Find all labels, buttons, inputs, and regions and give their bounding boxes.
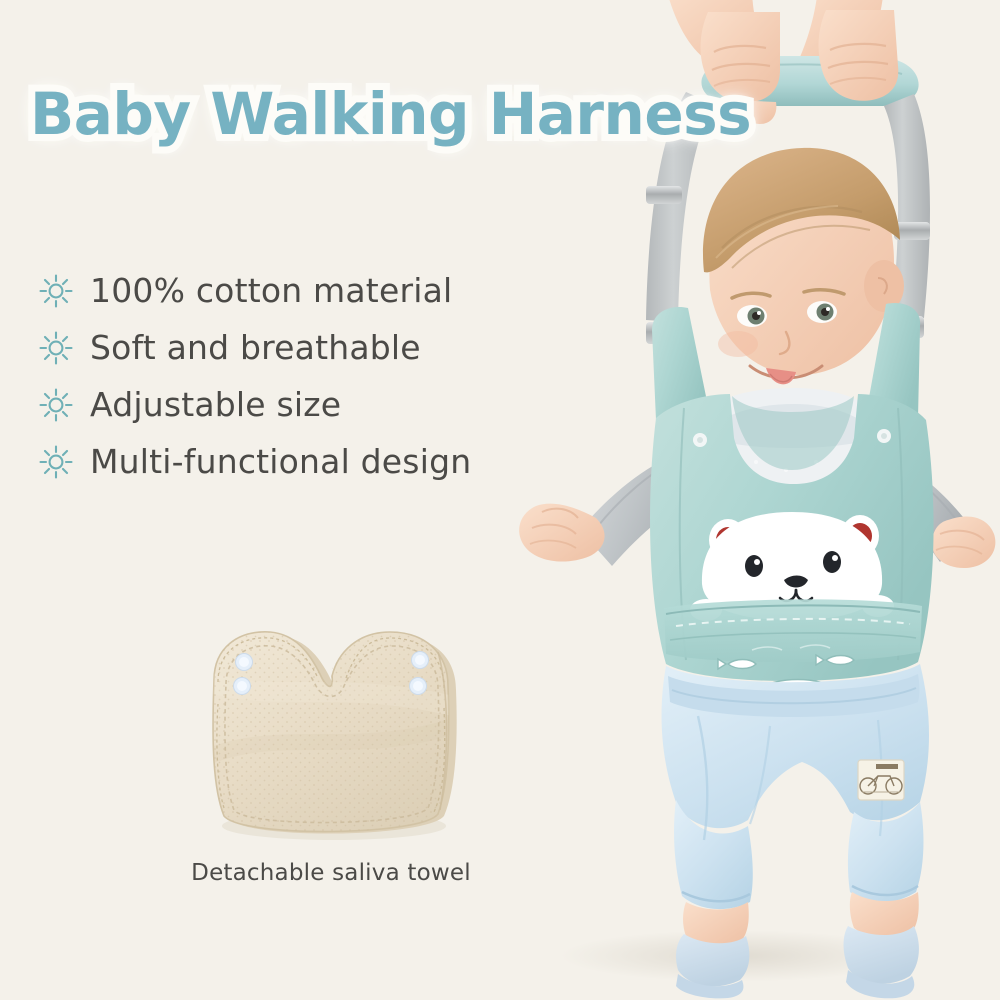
title-block: Baby Walking Harness	[30, 84, 751, 145]
feature-item-cotton: 100% cotton material	[36, 262, 471, 319]
sun-icon	[36, 328, 76, 368]
page-title: Baby Walking Harness	[30, 84, 751, 145]
feature-label: Multi-functional design	[90, 442, 471, 481]
towel-caption: Detachable saliva towel	[186, 860, 476, 886]
sun-icon	[36, 271, 76, 311]
feature-item-multifunctional: Multi-functional design	[36, 433, 471, 490]
feature-label: Soft and breathable	[90, 328, 421, 367]
feature-list: 100% cotton material Soft and breathable	[36, 262, 471, 490]
feature-item-breathable: Soft and breathable	[36, 319, 471, 376]
sun-icon	[36, 385, 76, 425]
saliva-towel-image	[186, 612, 476, 852]
sun-icon	[36, 442, 76, 482]
product-marketing-image: Baby Walking Harness 100% cotton materia…	[0, 0, 1000, 1000]
feature-label: Adjustable size	[90, 385, 341, 424]
feature-item-adjustable: Adjustable size	[36, 376, 471, 433]
feature-label: 100% cotton material	[90, 271, 452, 310]
product-photo	[470, 0, 1000, 1000]
saliva-towel-group: Detachable saliva towel	[186, 612, 476, 912]
